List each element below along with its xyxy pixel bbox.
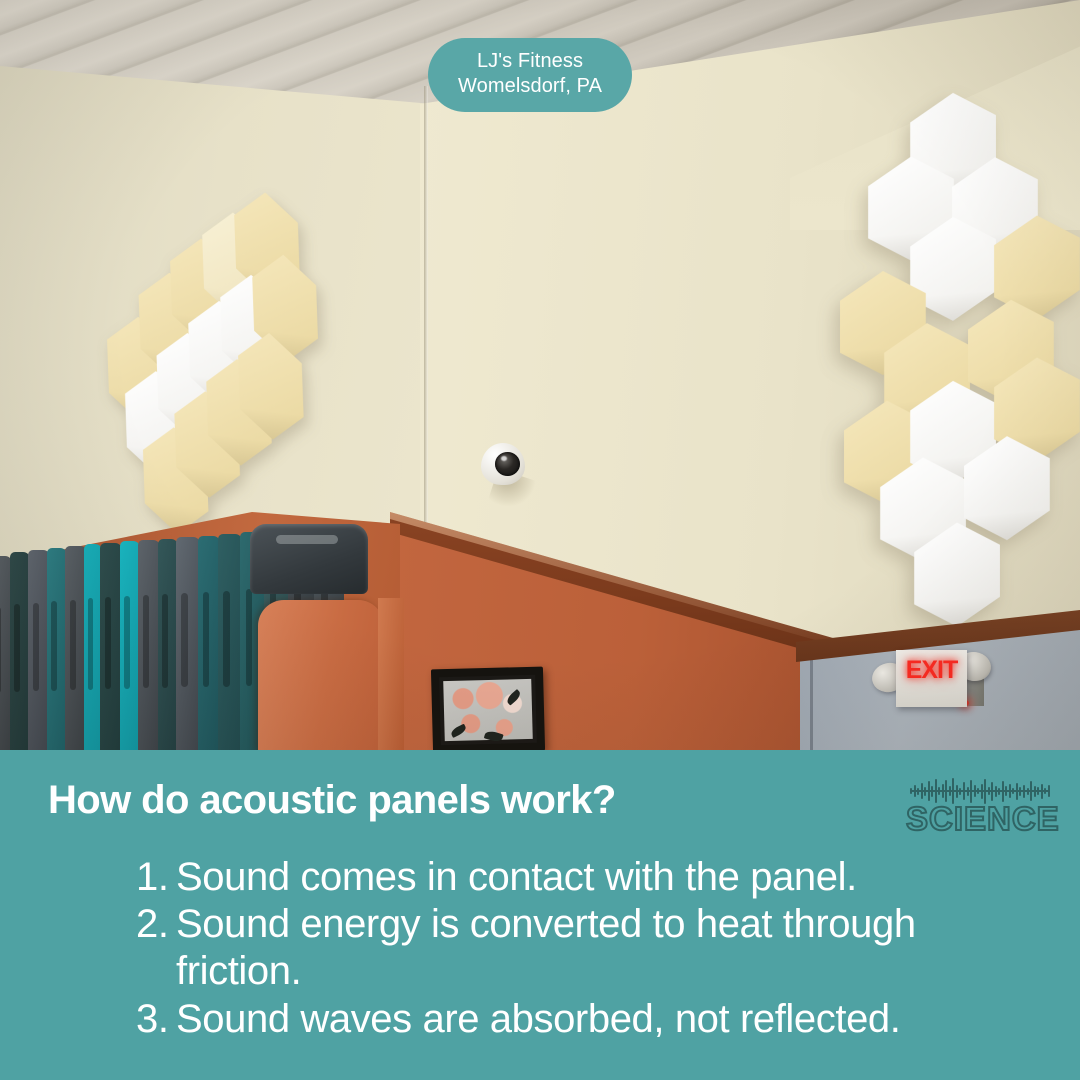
mat-item (158, 539, 178, 752)
list-item: 3. Sound waves are absorbed, not reflect… (136, 996, 1016, 1043)
wall-corner-edge (424, 86, 428, 526)
mat-item (47, 548, 67, 752)
social-post-canvas: EXIT LJ's Fitness Womelsdorf, PA How do … (0, 0, 1080, 1080)
acoustic-panel-cluster-left (104, 243, 353, 524)
mat-item (138, 540, 160, 752)
brand-wordmark: SCIENCE (906, 800, 1054, 838)
wood-post (378, 598, 404, 752)
exit-sign-label: EXIT (896, 656, 967, 685)
leaf-shape (450, 724, 468, 738)
list-item-number: 2. (136, 901, 176, 948)
wood-partition-panel (258, 600, 384, 752)
steps-list: 1. Sound comes in contact with the panel… (136, 854, 1016, 1043)
gym-photo: EXIT (0, 0, 1080, 752)
list-item-number: 1. (136, 854, 176, 901)
list-item-text: Sound energy is converted to heat throug… (176, 901, 1016, 995)
brand-logo: SCIENCE (906, 778, 1054, 844)
mat-item (176, 537, 200, 752)
camera-glint (501, 456, 507, 461)
acoustic-panel-cluster-right (848, 98, 1078, 628)
leaf-shape (505, 689, 522, 706)
list-item-text: Sound comes in contact with the panel. (176, 854, 1016, 901)
location-badge-line2: Womelsdorf, PA (458, 74, 602, 99)
list-item-number: 3. (136, 996, 176, 1043)
mat-item (100, 543, 122, 752)
floral-art-image (443, 679, 533, 741)
wall-seam (810, 652, 813, 752)
list-item-text: Sound waves are absorbed, not reflected. (176, 996, 1016, 1043)
dome-security-camera-icon (481, 443, 525, 485)
page-title: How do acoustic panels work? (48, 778, 616, 823)
location-badge-line1: LJ's Fitness (458, 49, 602, 74)
mat-item (218, 534, 242, 752)
mat-top-cap (250, 524, 368, 594)
mat-item (120, 541, 140, 752)
framed-floral-artwork (431, 667, 545, 752)
location-badge: LJ's Fitness Womelsdorf, PA (428, 38, 632, 112)
mat-item (198, 536, 220, 752)
list-item: 2. Sound energy is converted to heat thr… (136, 901, 1016, 995)
waveform-center-line (910, 790, 1050, 792)
exit-sign-icon: EXIT (896, 650, 967, 707)
mat-item (10, 552, 30, 752)
camera-lens (495, 452, 520, 476)
list-item: 1. Sound comes in contact with the panel… (136, 854, 1016, 901)
